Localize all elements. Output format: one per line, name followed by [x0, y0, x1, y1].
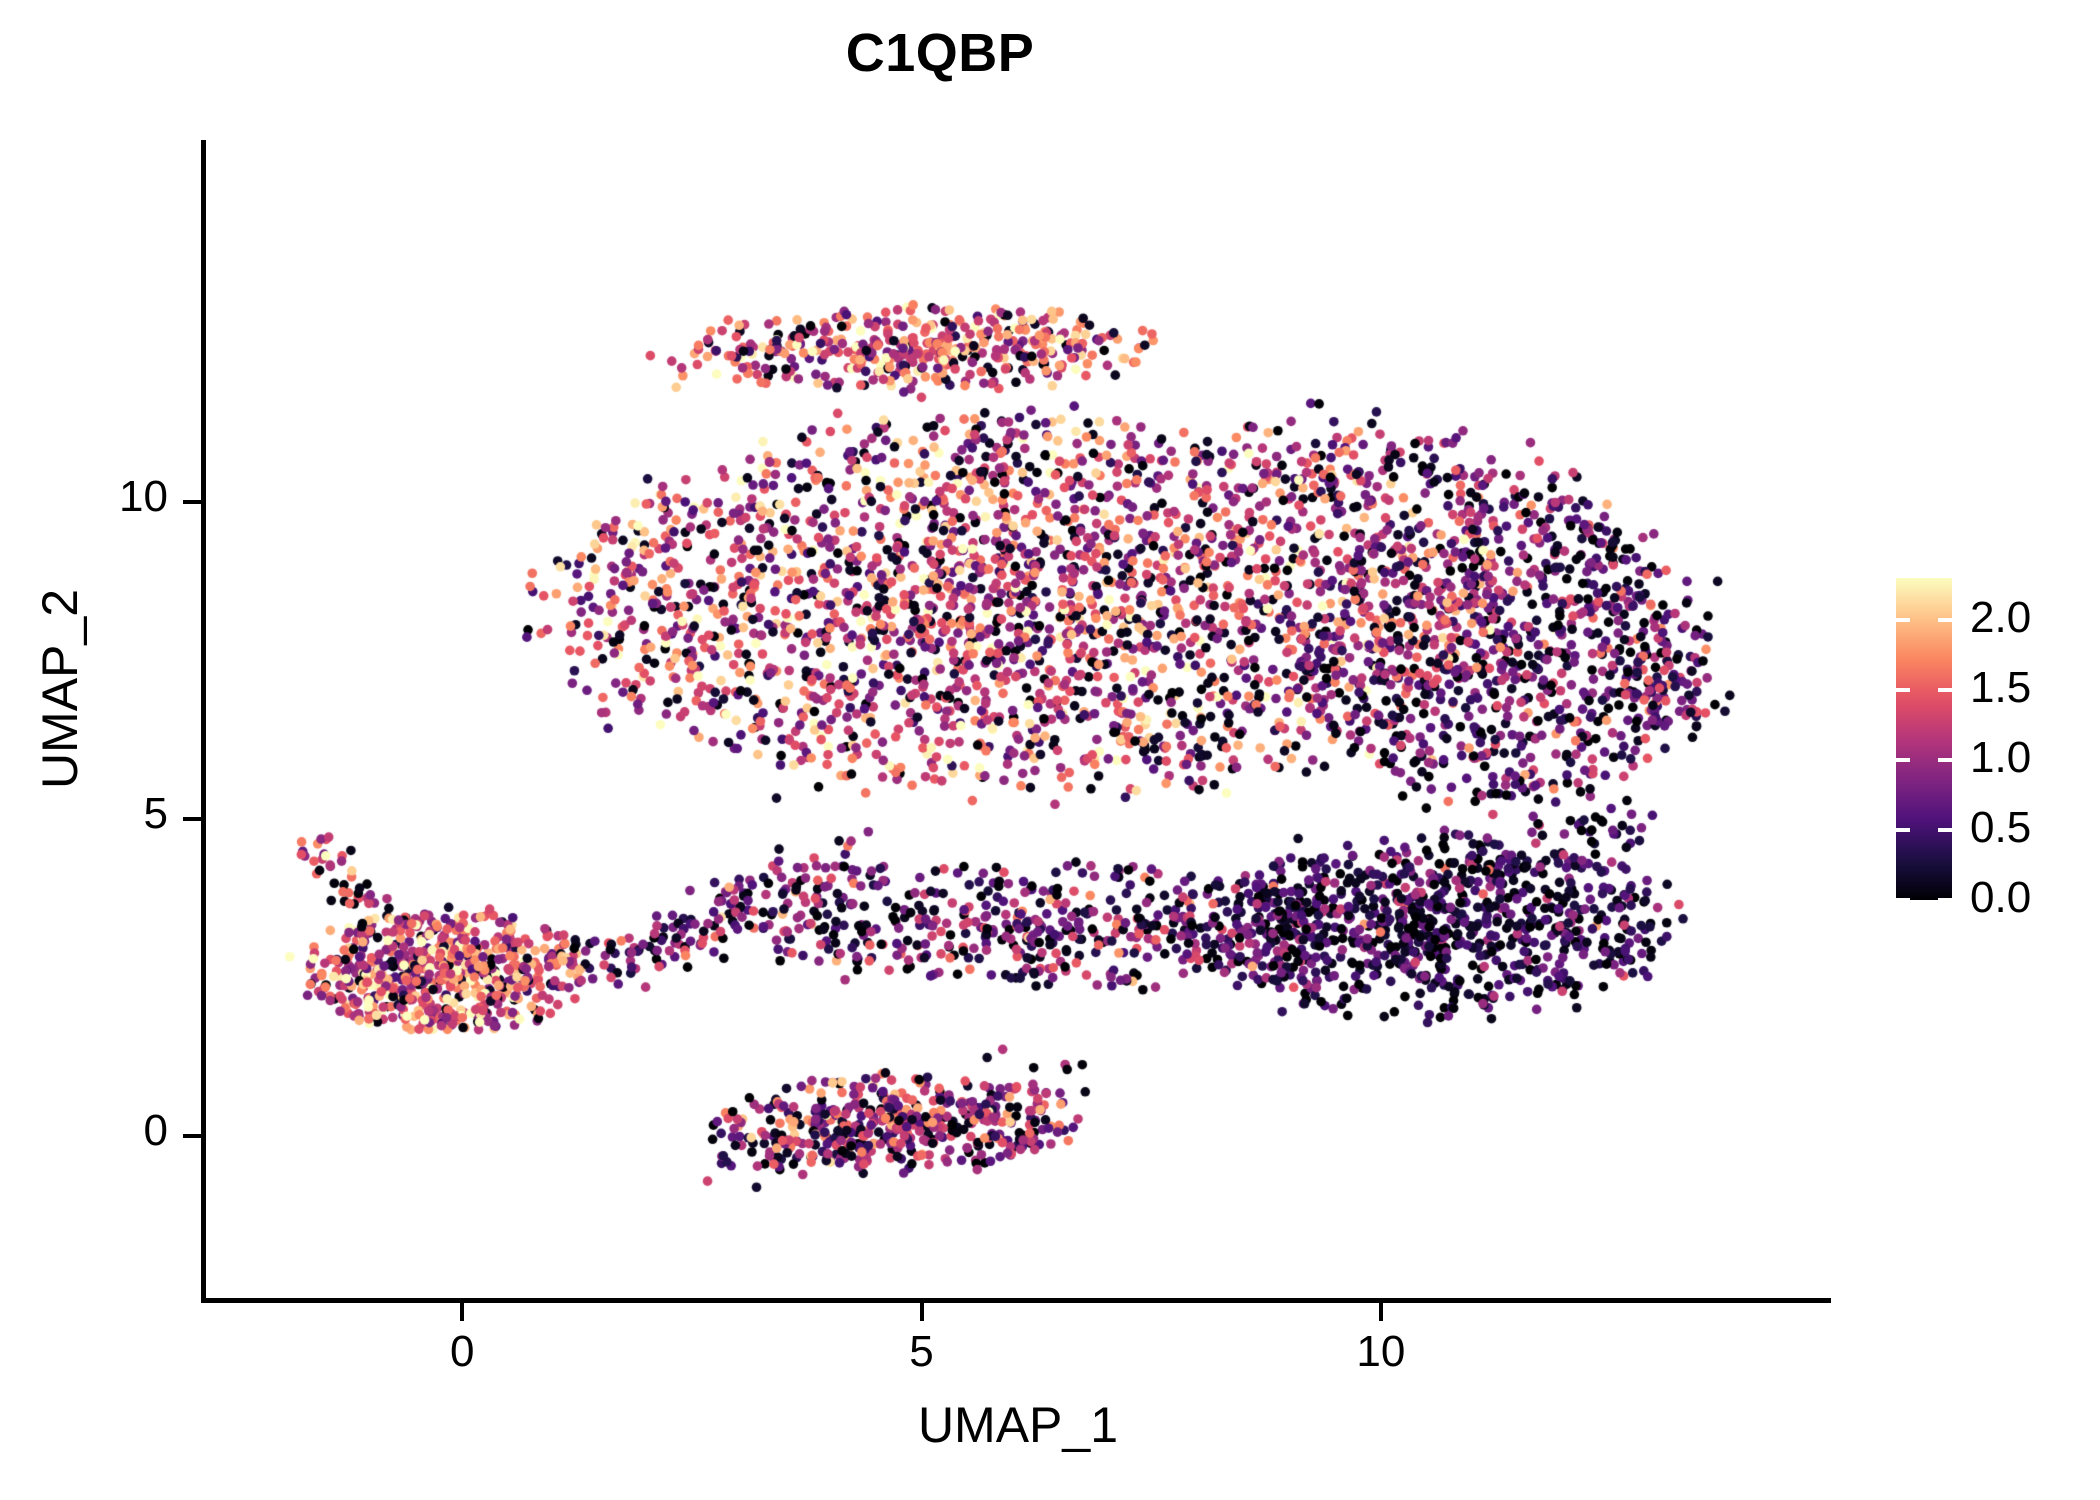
colorbar-gradient: [1896, 578, 1952, 900]
y-tick-2: [183, 1134, 201, 1138]
colorbar-tick: [1938, 688, 1952, 692]
colorbar-label-1-0: 1.0: [1970, 733, 2090, 783]
colorbar-tick: [1896, 618, 1910, 622]
page-title: C1QBP: [0, 22, 1880, 84]
x-axis-line: [201, 1298, 1831, 1303]
colorbar-tick: [1938, 828, 1952, 832]
x-tick-label-1: 5: [862, 1327, 982, 1377]
colorbar-tick: [1938, 898, 1952, 902]
y-axis-title: UMAP_2: [31, 339, 89, 1039]
colorbar-tick: [1896, 688, 1910, 692]
colorbar-tick: [1896, 828, 1910, 832]
x-axis-title: UMAP_1: [205, 1396, 1831, 1454]
x-tick-1: [920, 1303, 924, 1321]
x-tick-label-2: 10: [1321, 1327, 1441, 1377]
colorbar-legend: 2.0 1.5 1.0 0.5 0.0: [1896, 578, 2086, 900]
colorbar-label-1-5: 1.5: [1970, 663, 2090, 713]
y-tick-0: [183, 500, 201, 504]
y-tick-1: [183, 817, 201, 821]
colorbar-tick: [1938, 758, 1952, 762]
colorbar-tick: [1938, 618, 1952, 622]
colorbar-label-0-5: 0.5: [1970, 803, 2090, 853]
x-tick-2: [1379, 1303, 1383, 1321]
colorbar-tick: [1896, 758, 1910, 762]
colorbar-label-2-0: 2.0: [1970, 593, 2090, 643]
chart-root: C1QBP 0 5 10 10 5 0 UMAP_1 UMAP_2 2.0 1.…: [0, 0, 2100, 1500]
x-tick-0: [460, 1303, 464, 1321]
colorbar-tick: [1896, 898, 1910, 902]
colorbar-label-0-0: 0.0: [1970, 873, 2090, 923]
scatter-canvas: [205, 140, 1831, 1301]
y-tick-label-0: 0: [0, 1106, 168, 1156]
x-tick-label-0: 0: [402, 1327, 522, 1377]
plot-panel: [205, 140, 1831, 1301]
y-axis-line: [201, 140, 206, 1303]
